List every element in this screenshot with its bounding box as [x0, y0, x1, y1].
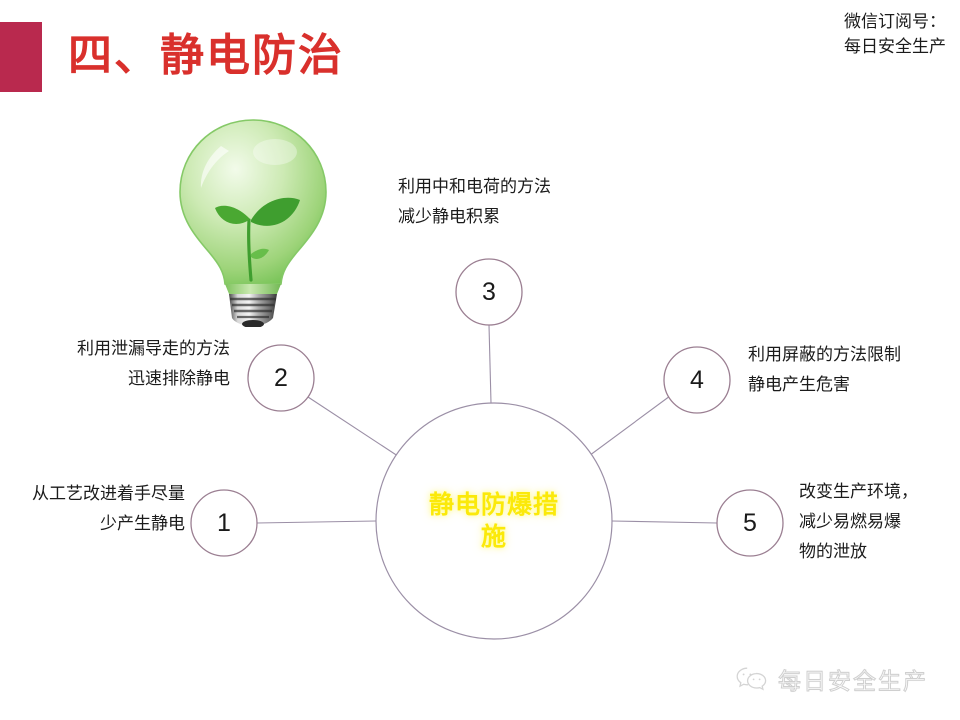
callout-1: 从工艺改进着手尽量 少产生静电: [0, 479, 185, 539]
node-number-1[interactable]: 1: [191, 490, 257, 556]
callout-4: 利用屏蔽的方法限制 静电产生危害: [748, 340, 901, 400]
callout-1-line-2: 少产生静电: [0, 509, 185, 539]
callout-5-line-2: 减少易燃易爆: [799, 507, 918, 537]
slide-canvas: 四、静电防治 微信订阅号： 每日安全生产: [0, 0, 960, 720]
connector-1: [257, 521, 376, 523]
node-number-5[interactable]: 5: [717, 490, 783, 556]
hub-label: 静电防爆措施: [419, 489, 569, 553]
watermark-text: 每日安全生产: [778, 662, 928, 696]
callout-3-line-2: 减少静电积累: [398, 202, 551, 232]
connector-2: [308, 397, 410, 464]
callout-2: 利用泄漏导走的方法 迅速排除静电: [0, 334, 230, 394]
callout-5-line-3: 物的泄放: [799, 537, 918, 567]
callout-2-line-2: 迅速排除静电: [0, 364, 230, 394]
callout-4-line-2: 静电产生危害: [748, 370, 901, 400]
callout-1-line-1: 从工艺改进着手尽量: [0, 479, 185, 509]
callout-3-line-1: 利用中和电荷的方法: [398, 172, 551, 202]
callout-2-line-1: 利用泄漏导走的方法: [0, 334, 230, 364]
wechat-icon: [735, 665, 769, 693]
callout-4-line-1: 利用屏蔽的方法限制: [748, 340, 901, 370]
connector-5: [612, 521, 717, 523]
callout-5: 改变生产环境， 减少易燃易爆 物的泄放: [799, 477, 918, 566]
node-number-3[interactable]: 3: [456, 259, 522, 325]
node-number-2[interactable]: 2: [248, 345, 314, 411]
node-number-4[interactable]: 4: [664, 347, 730, 413]
callout-3: 利用中和电荷的方法 减少静电积累: [398, 172, 551, 232]
connector-4: [578, 396, 670, 464]
footer-watermark: 每日安全生产: [735, 662, 928, 696]
connector-3: [489, 325, 491, 403]
callout-5-line-1: 改变生产环境，: [799, 477, 918, 507]
